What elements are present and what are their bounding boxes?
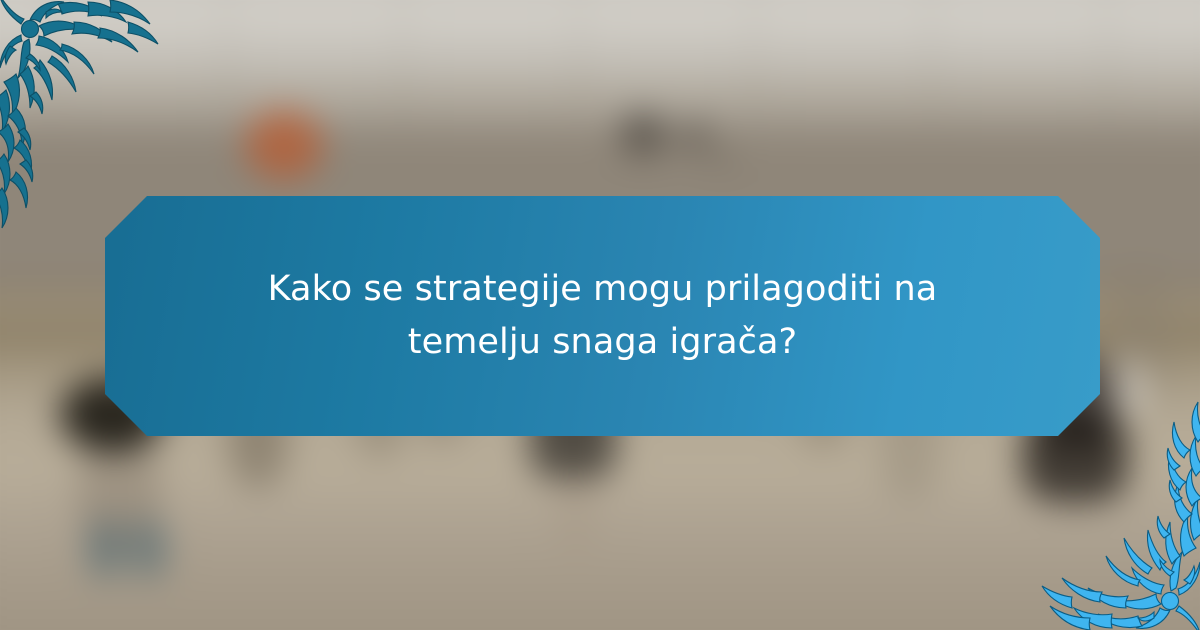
question-banner: Kako se strategije mogu prilagoditi na t… — [105, 196, 1100, 436]
poster-canvas: Kako se strategije mogu prilagoditi na t… — [0, 0, 1200, 630]
background-ball-blob — [245, 110, 323, 180]
background-player-blob — [132, 520, 166, 578]
background-player-blob — [88, 520, 122, 578]
banner-title: Kako se strategije mogu prilagoditi na t… — [258, 263, 948, 369]
background-equipment-blob — [712, 148, 734, 168]
background-equipment-blob — [678, 118, 712, 154]
background-equipment-blob — [620, 112, 666, 156]
